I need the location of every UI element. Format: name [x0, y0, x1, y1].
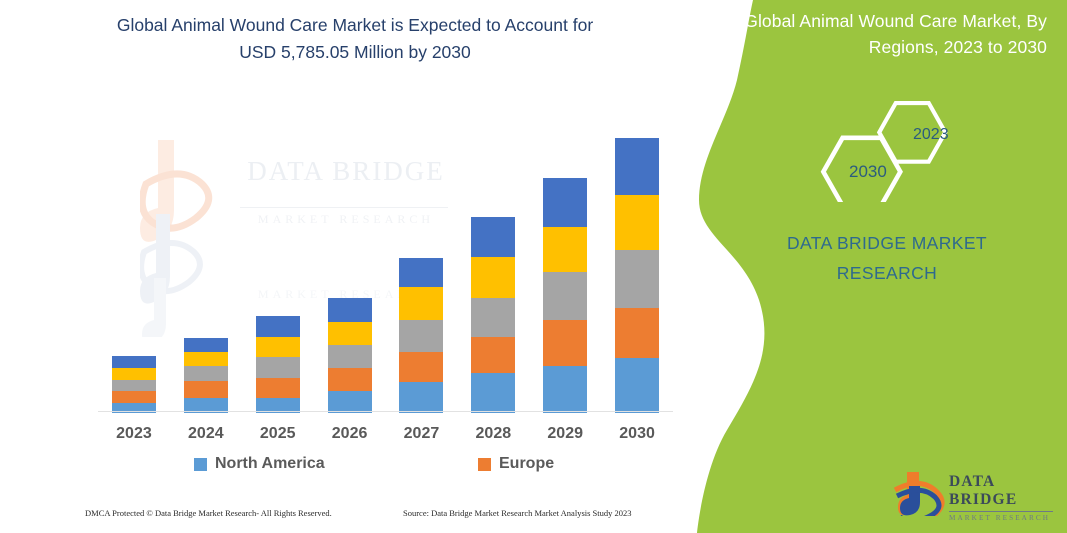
bar-segment-europe-2023	[112, 391, 156, 403]
logo-main-text: DATA BRIDGE	[949, 473, 1061, 509]
hexagon-label-2030: 2030	[849, 162, 887, 182]
right-green-panel: Global Animal Wound Care Market, By Regi…	[697, 0, 1067, 533]
x-tick-2026: 2026	[310, 425, 390, 443]
bar-segment-series-5-2025	[256, 316, 300, 337]
footer-copyright: DMCA Protected © Data Bridge Market Rese…	[85, 508, 332, 518]
bar-segment-series-4-2025	[256, 337, 300, 357]
bar-segment-europe-2030	[615, 308, 659, 358]
green-panel-content: Global Animal Wound Care Market, By Regi…	[697, 0, 1067, 533]
logo-sub-text: MARKET RESEARCH	[949, 514, 1061, 522]
chart-baseline	[98, 411, 673, 412]
bar-segment-series-3-2026	[328, 345, 372, 368]
legend-item-north-america[interactable]: North America	[194, 455, 325, 473]
bar-segment-series-4-2028	[471, 257, 515, 298]
bar-group-2030[interactable]	[615, 138, 659, 413]
bar-segment-series-4-2026	[328, 322, 372, 345]
bar-segment-europe-2028	[471, 337, 515, 373]
bar-group-2029[interactable]	[543, 178, 587, 413]
bar-segment-series-5-2030	[615, 138, 659, 195]
bar-segment-north-america-2029	[543, 366, 587, 413]
logo-text: DATA BRIDGE MARKET RESEARCH	[949, 473, 1061, 522]
x-tick-2027: 2027	[381, 425, 461, 443]
chart-title-line1: Global Animal Wound Care Market is Expec…	[117, 15, 593, 35]
chart-title: Global Animal Wound Care Market is Expec…	[75, 12, 635, 66]
data-bridge-logo: DATA BRIDGE MARKET RESEARCH	[893, 470, 1061, 518]
bar-segment-series-3-2023	[112, 380, 156, 391]
bar-segment-europe-2025	[256, 378, 300, 398]
footer-source: Source: Data Bridge Market Research Mark…	[403, 508, 632, 518]
legend-label: North America	[215, 455, 325, 473]
bar-group-2026[interactable]	[328, 298, 372, 413]
panel-brand-line1: DATA BRIDGE MARKET	[787, 233, 987, 253]
x-tick-2024: 2024	[166, 425, 246, 443]
panel-title-line2: Regions, 2023 to 2030	[869, 37, 1047, 57]
bar-segment-europe-2029	[543, 320, 587, 366]
chart-legend: North AmericaEurope	[98, 455, 673, 481]
bar-segment-north-america-2028	[471, 373, 515, 413]
bar-segment-series-5-2029	[543, 178, 587, 227]
logo-divider	[949, 511, 1053, 512]
panel-brand-title: DATA BRIDGE MARKET RESEARCH	[727, 228, 1047, 288]
bar-segment-north-america-2026	[328, 391, 372, 413]
bar-segment-series-5-2027	[399, 258, 443, 287]
bar-segment-series-4-2027	[399, 287, 443, 320]
infographic-canvas: Global Animal Wound Care Market is Expec…	[0, 0, 1067, 533]
logo-mark-icon	[893, 470, 945, 516]
hexagon-label-2023: 2023	[913, 126, 949, 144]
bar-segment-series-5-2024	[184, 338, 228, 352]
x-tick-2025: 2025	[238, 425, 318, 443]
bar-segment-series-5-2023	[112, 356, 156, 368]
bar-segment-europe-2024	[184, 381, 228, 398]
bar-segment-series-3-2027	[399, 320, 443, 352]
bar-segment-europe-2026	[328, 368, 372, 391]
bar-group-2027[interactable]	[399, 258, 443, 414]
legend-label: Europe	[499, 455, 554, 473]
x-tick-2028: 2028	[453, 425, 533, 443]
bar-segment-europe-2027	[399, 352, 443, 382]
bar-group-2023[interactable]	[112, 356, 156, 413]
panel-title-line1: Global Animal Wound Care Market, By	[744, 11, 1047, 31]
bar-segment-series-5-2028	[471, 217, 515, 256]
bar-segment-series-3-2030	[615, 250, 659, 307]
footer: DMCA Protected © Data Bridge Market Rese…	[0, 508, 700, 528]
hexagon-pair-icon	[697, 92, 1067, 202]
panel-brand-line2: RESEARCH	[837, 263, 937, 283]
chart-title-line2: USD 5,785.05 Million by 2030	[239, 42, 471, 62]
bar-segment-series-5-2026	[328, 298, 372, 322]
bar-segment-series-3-2028	[471, 298, 515, 337]
bar-group-2024[interactable]	[184, 338, 228, 413]
x-tick-2023: 2023	[94, 425, 174, 443]
bar-segment-series-3-2025	[256, 357, 300, 378]
bar-segment-series-4-2030	[615, 195, 659, 250]
bar-segment-north-america-2027	[399, 382, 443, 413]
bar-segment-series-3-2029	[543, 272, 587, 320]
bar-segment-series-4-2024	[184, 352, 228, 366]
bar-segment-series-3-2024	[184, 366, 228, 381]
legend-swatch-icon	[194, 458, 207, 471]
bar-group-2028[interactable]	[471, 217, 515, 413]
x-tick-2029: 2029	[525, 425, 605, 443]
x-tick-2030: 2030	[597, 425, 677, 443]
bar-group-2025[interactable]	[256, 316, 300, 413]
legend-swatch-icon	[478, 458, 491, 471]
bar-segment-series-4-2029	[543, 227, 587, 271]
bar-chart-plot	[98, 120, 673, 413]
bar-segment-series-4-2023	[112, 368, 156, 380]
panel-title: Global Animal Wound Care Market, By Regi…	[737, 8, 1047, 60]
legend-item-europe[interactable]: Europe	[478, 455, 554, 473]
bar-segment-north-america-2030	[615, 358, 659, 413]
